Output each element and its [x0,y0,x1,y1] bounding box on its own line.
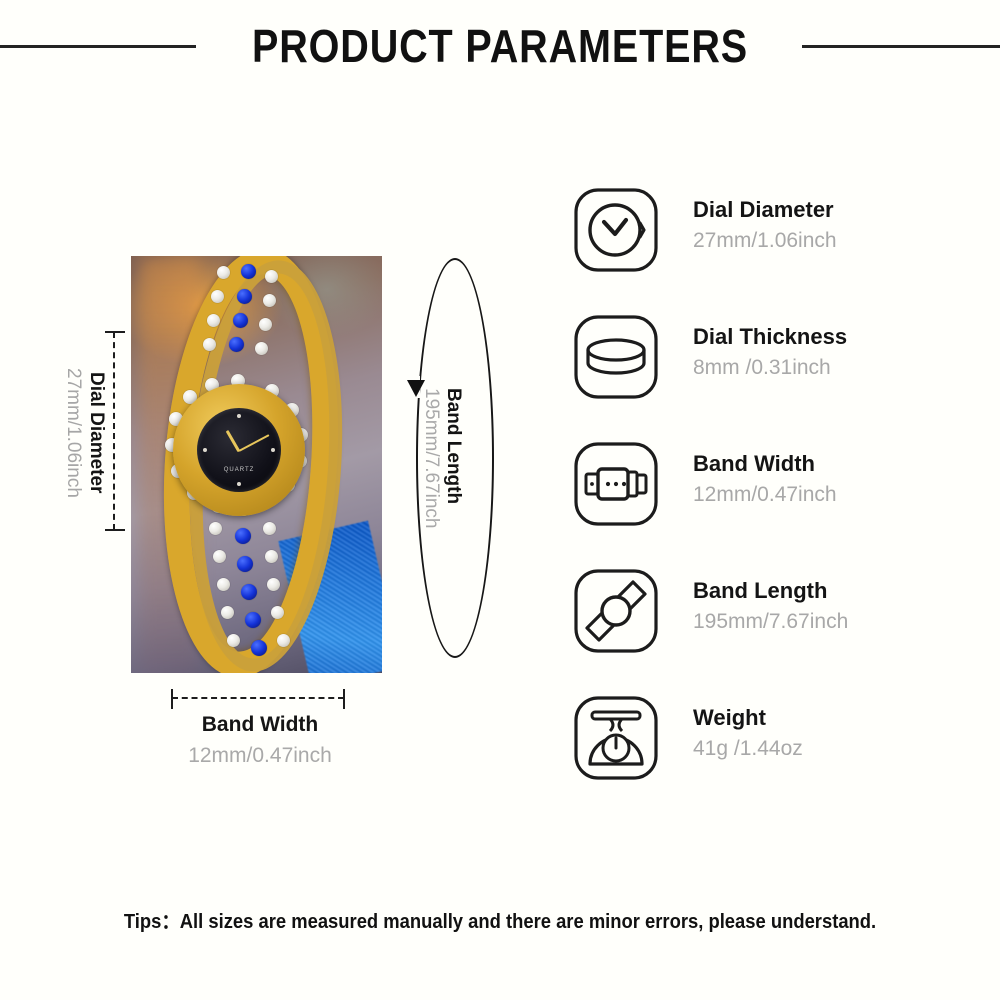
band-stone-blue [235,528,251,544]
band-stone-blue [237,556,253,572]
page-title: PRODUCT PARAMETERS [70,18,930,74]
dial-marker [271,448,275,452]
spec-value: 12mm/0.47inch [693,479,837,510]
band-stone [277,634,290,647]
band-stone-blue [241,264,256,279]
spec-label: Band Length [693,576,848,606]
dial-diameter-callout-value: 27mm/1.06inch [64,368,83,498]
disc-thickness-icon [568,309,664,405]
dial-diameter-dimension-line [113,332,115,530]
band-stone [203,338,216,351]
dimension-cap-right [343,689,345,709]
kitchen-scale-icon [568,690,664,786]
spec-list: Dial Diameter 27mm/1.06inch Dial Thickne… [568,182,968,817]
band-length-callout: 195mm/7.67inch Band Length [404,258,508,658]
band-stone-blue [233,313,248,328]
spec-label: Dial Thickness [693,322,847,352]
band-length-callout-label: Band Length [444,388,463,504]
watch-dial-icon [568,182,664,278]
dimension-cap-left [171,689,173,709]
band-stone-blue [229,337,244,352]
band-width-callout-label: Band Width [120,710,400,740]
band-width-callout-value: 12mm/0.47inch [120,740,400,772]
spec-row-band-length: Band Length 195mm/7.67inch [568,563,968,690]
band-stone [209,522,222,535]
band-length-callout-value: 195mm/7.67inch [422,388,441,528]
band-stone [221,606,234,619]
watch-buckle-icon [568,436,664,532]
dial-diameter-callout: Dial Diameter 27mm/1.06inch [36,335,106,530]
band-stone [263,294,276,307]
dial-diameter-callout-label: Dial Diameter [87,372,106,493]
spec-value: 8mm /0.31inch [693,352,847,383]
band-stone [271,606,284,619]
spec-label: Band Width [693,449,837,479]
band-stone [267,578,280,591]
spec-value: 27mm/1.06inch [693,225,837,256]
spec-value: 195mm/7.67inch [693,606,848,637]
dial-marker [203,448,207,452]
product-photo: QUARTZ [131,256,382,673]
band-stone-blue [251,640,267,656]
spec-row-dial-thickness: Dial Thickness 8mm /0.31inch [568,309,968,436]
dial-marker [237,414,241,418]
band-stone [265,270,278,283]
spec-row-weight: Weight 41g /1.44oz [568,690,968,817]
band-stone [255,342,268,355]
band-width-callout: Band Width 12mm/0.47inch [120,710,400,772]
band-stone-blue [241,584,257,600]
dial-brand-text: QUARTZ [197,467,281,473]
spec-label: Weight [693,703,803,733]
watch-case: QUARTZ [173,384,305,516]
footer-tips: Tips：All sizes are measured manually and… [40,905,960,934]
page-header: PRODUCT PARAMETERS [0,18,1000,78]
dimension-cap-top [105,331,125,333]
band-stone [259,318,272,331]
minute-hand [239,434,270,452]
spec-value: 41g /1.44oz [693,733,803,764]
band-stone-blue [237,289,252,304]
band-stone [263,522,276,535]
band-stone-blue [245,612,261,628]
band-stone [265,550,278,563]
watch-dial: QUARTZ [197,408,281,492]
band-stone [217,266,230,279]
band-stone [211,290,224,303]
spec-label: Dial Diameter [693,195,837,225]
spec-row-dial-diameter: Dial Diameter 27mm/1.06inch [568,182,968,309]
band-stone [207,314,220,327]
dial-marker [237,482,241,486]
band-stone [227,634,240,647]
band-stone [217,578,230,591]
band-stone [213,550,226,563]
band-width-dimension-line [172,697,344,699]
spec-row-band-width: Band Width 12mm/0.47inch [568,436,968,563]
dimension-cap-bottom [105,529,125,531]
watch-strap-icon [568,563,664,659]
